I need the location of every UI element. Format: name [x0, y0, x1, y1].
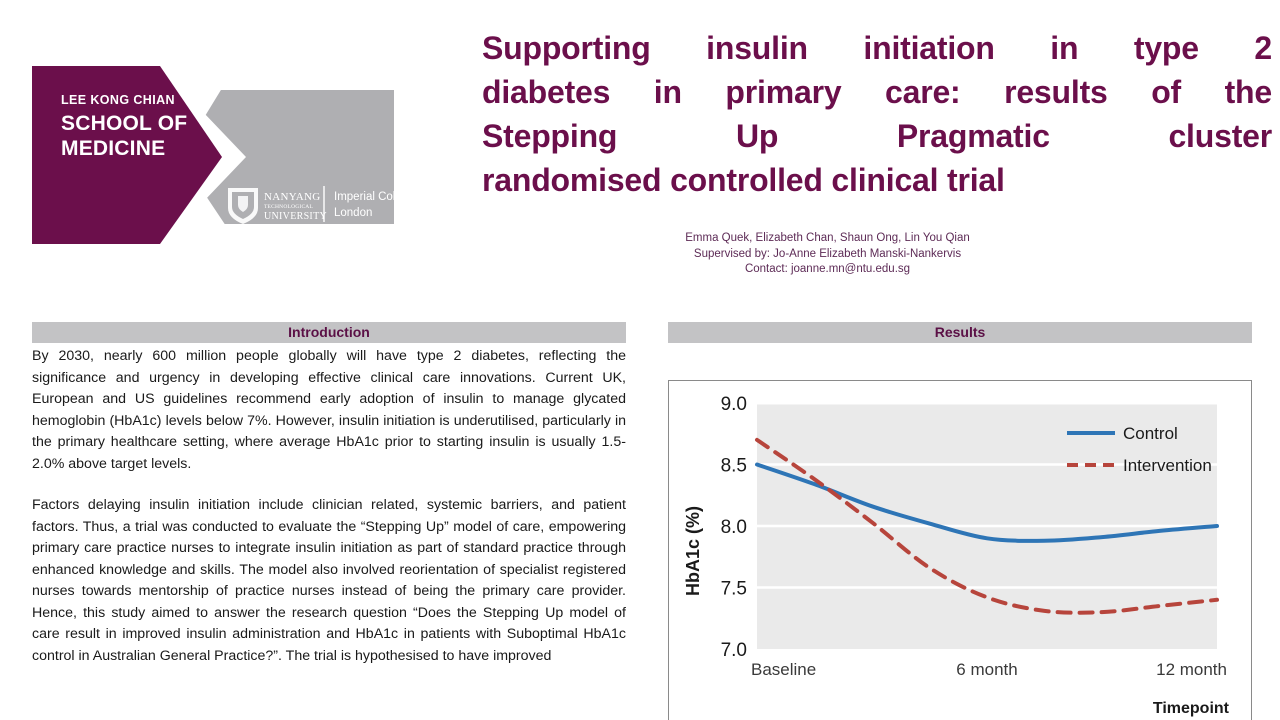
chart-x-tick-labels: Baseline6 month12 month — [751, 660, 1227, 679]
introduction-paragraph-2: Factors delaying insulin initiation incl… — [32, 495, 626, 667]
legend-label-control: Control — [1123, 424, 1178, 443]
title-line-1: Supporting insulin initiation in type 2 — [482, 26, 1272, 70]
logo-school-line3: MEDICINE — [61, 137, 165, 160]
authors-block: Emma Quek, Elizabeth Chan, Shaun Ong, Li… — [600, 231, 1055, 278]
page-title: Supporting insulin initiation in type 2 … — [482, 26, 1272, 202]
left-column: Introduction By 2030, nearly 600 million… — [32, 322, 626, 667]
introduction-paragraph-1: By 2030, nearly 600 million people globa… — [32, 346, 626, 475]
title-line-4: randomised controlled clinical trial — [482, 158, 1272, 202]
legend-label-intervention: Intervention — [1123, 456, 1212, 475]
author-list: Emma Quek, Elizabeth Chan, Shaun Ong, Li… — [600, 231, 1055, 247]
chart-y-axis-label: HbA1c (%) — [683, 506, 703, 596]
logo-school-line1: LEE KONG CHIAN — [61, 93, 175, 107]
imperial-college-line2: London — [334, 207, 372, 219]
supervisor-line: Supervised by: Jo-Anne Elizabeth Manski-… — [600, 247, 1055, 263]
y-tick-label: 8.5 — [721, 456, 747, 477]
lkcmedicine-logo: LEE KONG CHIAN SCHOOL OF MEDICINE NANYAN… — [32, 62, 422, 244]
x-tick-label: Baseline — [751, 660, 816, 679]
title-block: Supporting insulin initiation in type 2 … — [482, 26, 1272, 202]
x-tick-label: 6 month — [956, 660, 1017, 679]
y-tick-label: 7.5 — [721, 579, 747, 600]
chart-y-tick-labels: 7.07.58.08.59.0 — [721, 394, 747, 661]
ntu-name: NANYANG — [264, 191, 321, 203]
poster-header: LEE KONG CHIAN SCHOOL OF MEDICINE NANYAN… — [0, 0, 1280, 300]
logo-graphic: LEE KONG CHIAN SCHOOL OF MEDICINE NANYAN… — [32, 62, 422, 244]
y-tick-label: 8.0 — [721, 517, 747, 538]
title-line-3: Stepping Up Pragmatic cluster — [482, 114, 1272, 158]
y-tick-label: 9.0 — [721, 394, 747, 415]
right-column: Results — [668, 322, 1252, 343]
section-header-results: Results — [668, 322, 1252, 343]
title-line-2: diabetes in primary care: results of the — [482, 70, 1272, 114]
y-tick-label: 7.0 — [721, 640, 747, 661]
logo-school-line2: SCHOOL OF — [61, 112, 187, 135]
hba1c-line-chart: 7.07.58.08.59.0 Baseline6 month12 month … — [669, 381, 1251, 720]
chart-x-axis-label: Timepoint — [1153, 700, 1230, 717]
ntu-sub-university: UNIVERSITY — [264, 211, 327, 222]
section-header-introduction: Introduction — [32, 322, 626, 343]
ntu-sub-technological: TECHNOLOGICAL — [264, 204, 313, 210]
imperial-college-line1: Imperial College — [334, 191, 417, 203]
contact-line: Contact: joanne.mn@ntu.edu.sg — [600, 262, 1055, 278]
results-chart-container: 7.07.58.08.59.0 Baseline6 month12 month … — [668, 380, 1252, 720]
x-tick-label: 12 month — [1156, 660, 1227, 679]
poster-canvas: LEE KONG CHIAN SCHOOL OF MEDICINE NANYAN… — [0, 0, 1280, 720]
